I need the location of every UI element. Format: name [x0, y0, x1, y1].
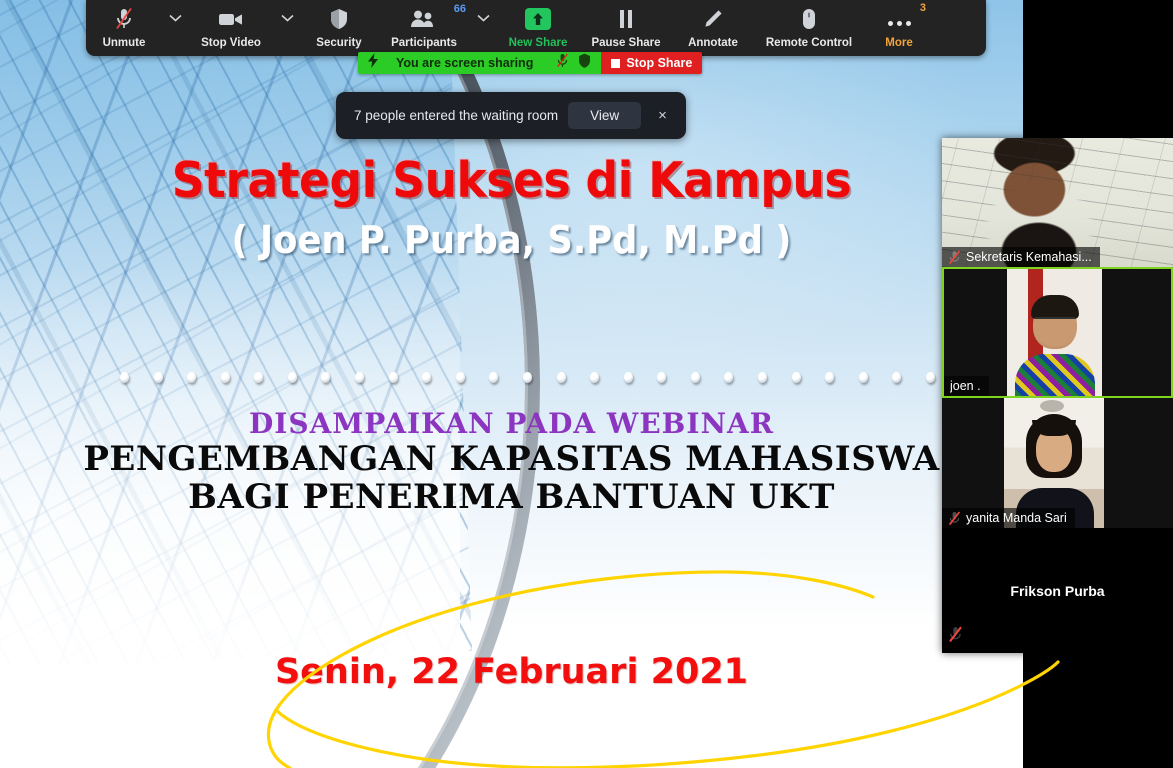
- unmute-label: Unmute: [103, 37, 146, 49]
- pause-share-button[interactable]: Pause Share: [580, 0, 672, 56]
- slide-dot: [557, 372, 566, 383]
- participant-name: joen .: [950, 379, 981, 393]
- ellipsis-icon: [888, 6, 911, 32]
- slide-dot: [724, 372, 733, 383]
- slide-dot: [892, 372, 901, 383]
- stop-square-icon: [611, 59, 620, 68]
- close-icon[interactable]: ×: [651, 103, 674, 128]
- participant-name-bar: Sekretaris Kemahasi...: [942, 247, 1100, 267]
- stop-video-label: Stop Video: [201, 37, 261, 49]
- participant-name: yanita Manda Sari: [966, 511, 1067, 525]
- participants-button[interactable]: 66 Participants: [378, 0, 470, 56]
- remote-control-button[interactable]: Remote Control: [754, 0, 864, 56]
- microphone-muted-icon: [948, 250, 961, 265]
- slide-dot: [456, 372, 465, 383]
- slide-dot: [187, 372, 196, 383]
- video-camera-icon: [218, 6, 244, 32]
- slide-dot: [859, 372, 868, 383]
- video-options-chevron-down-icon[interactable]: [274, 0, 300, 56]
- slide-line-black-2: BAGI PENERIMA BANTUAN UKT: [0, 477, 1023, 517]
- slide-dot: [288, 372, 297, 383]
- zoom-meeting-toolbar: Unmute Stop Video Securi: [86, 0, 986, 56]
- video-tile-sekretaris[interactable]: Sekretaris Kemahasi...: [942, 138, 1173, 267]
- slide-dot: [321, 372, 330, 383]
- slide-dot: [590, 372, 599, 383]
- participant-video-strip: Sekretaris Kemahasi... joen .: [942, 138, 1173, 653]
- microphone-muted-icon[interactable]: [556, 53, 569, 73]
- participants-options-chevron-down-icon[interactable]: [470, 0, 496, 56]
- zoom-screenshare-window: Strategi Sukses di Kampus ( Joen P. Purb…: [0, 0, 1173, 768]
- waiting-room-message: 7 people entered the waiting room: [354, 108, 558, 123]
- pause-icon: [617, 6, 635, 32]
- sharing-status-text: You are screen sharing: [388, 56, 547, 70]
- more-count-badge: 3: [920, 3, 926, 14]
- slide-dot: [422, 372, 431, 383]
- slide-line-black-1: PENGEMBANGAN KAPASITAS MAHASISWA: [0, 439, 1023, 479]
- video-tile-frikson-no-video[interactable]: Frikson Purba: [942, 528, 1173, 653]
- slide-dot: [221, 372, 230, 383]
- shield-icon: [329, 6, 349, 32]
- slide-dot: [120, 372, 129, 383]
- microphone-muted-icon: [948, 511, 961, 526]
- mouse-icon: [801, 6, 817, 32]
- slide-dot: [758, 372, 767, 383]
- new-share-button[interactable]: New Share: [496, 0, 580, 56]
- slide-dot: [489, 372, 498, 383]
- participant-name: Frikson Purba: [942, 583, 1173, 599]
- slide-dot: [691, 372, 700, 383]
- slide-dot: [389, 372, 398, 383]
- slide-line-purple: DISAMPAIKAN PADA WEBINAR: [0, 407, 1023, 440]
- pause-share-label: Pause Share: [591, 37, 660, 49]
- participants-label: Participants: [391, 37, 457, 49]
- pencil-icon: [702, 6, 724, 32]
- microphone-muted-icon: [114, 6, 134, 32]
- participant-name: Sekretaris Kemahasi...: [966, 250, 1092, 264]
- audio-options-chevron-down-icon[interactable]: [162, 0, 188, 56]
- slide-dot: [355, 372, 364, 383]
- video-tile-yanita[interactable]: yanita Manda Sari: [942, 398, 1173, 528]
- webcam-feed: [1007, 269, 1102, 396]
- new-share-label: New Share: [509, 37, 568, 49]
- slide-dot: [825, 372, 834, 383]
- participants-icon: [409, 6, 439, 32]
- participant-name-bar: joen .: [944, 376, 989, 396]
- more-label: More: [885, 37, 912, 49]
- annotate-button[interactable]: Annotate: [672, 0, 754, 56]
- slide-dot: [792, 372, 801, 383]
- stop-share-button[interactable]: Stop Share: [601, 52, 702, 74]
- screen-sharing-status-bar: You are screen sharing Stop Share: [358, 52, 702, 74]
- slide-title: Strategi Sukses di Kampus: [36, 152, 987, 209]
- slide-subtitle-presenter: ( Joen P. Purba, S.Pd, M.Pd ): [36, 218, 987, 262]
- stop-video-button[interactable]: Stop Video: [188, 0, 274, 56]
- new-share-up-arrow-icon: [525, 6, 551, 32]
- unmute-button[interactable]: Unmute: [86, 0, 162, 56]
- remote-control-label: Remote Control: [766, 37, 852, 49]
- slide-dot: [624, 372, 633, 383]
- stop-share-label: Stop Share: [626, 56, 692, 70]
- participants-count-badge: 66: [454, 4, 466, 15]
- slide-dot: [926, 372, 935, 383]
- slide-dot: [657, 372, 666, 383]
- share-bolt-icon: [368, 53, 379, 73]
- slide-dot-divider: [120, 370, 935, 384]
- slide-date: Senin, 22 Februari 2021: [0, 652, 1023, 692]
- annotate-label: Annotate: [688, 37, 738, 49]
- microphone-muted-icon: [948, 626, 963, 648]
- slide-dot: [154, 372, 163, 383]
- slide-dot: [523, 372, 532, 383]
- more-button[interactable]: 3 More: [864, 0, 934, 56]
- video-tile-joen-active-speaker[interactable]: joen .: [942, 267, 1173, 398]
- sharing-status-group: You are screen sharing: [358, 52, 601, 74]
- view-waiting-room-button[interactable]: View: [568, 102, 641, 129]
- security-label: Security: [316, 37, 361, 49]
- security-button[interactable]: Security: [300, 0, 378, 56]
- slide-dot: [254, 372, 263, 383]
- shield-icon[interactable]: [578, 53, 591, 73]
- waiting-room-notification: 7 people entered the waiting room View ×: [336, 92, 686, 139]
- participant-name-bar: yanita Manda Sari: [942, 508, 1075, 528]
